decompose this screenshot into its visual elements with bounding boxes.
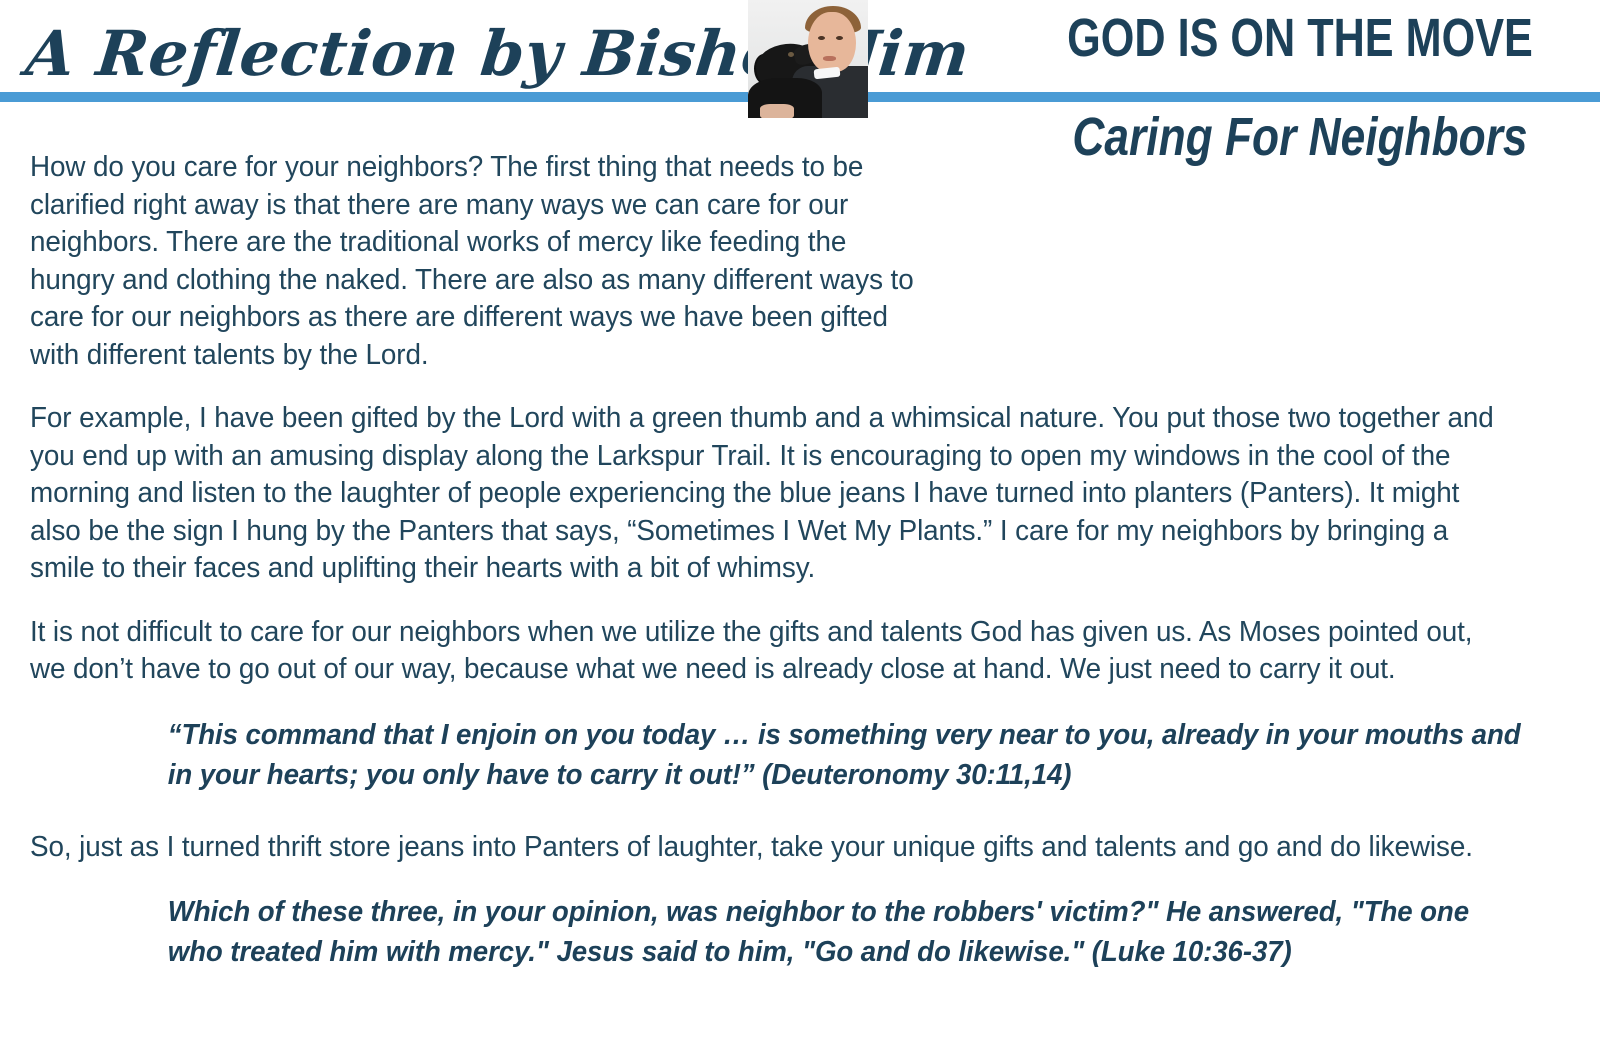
dog-paw — [760, 104, 794, 118]
article-body: How do you care for your neighbors? The … — [30, 149, 1568, 998]
paragraph-not-difficult: It is not difficult to care for our neig… — [30, 614, 1506, 689]
paragraph-intro: How do you care for your neighbors? The … — [30, 149, 923, 374]
priest-right-eye — [836, 36, 843, 40]
priest-mouth — [823, 56, 836, 61]
paragraph-example: For example, I have been gifted by the L… — [30, 400, 1506, 588]
paragraph-closing: So, just as I turned thrift store jeans … — [30, 829, 1506, 867]
priest-left-eye — [818, 36, 825, 40]
series-subtitle: Caring For Neighbors — [1054, 108, 1546, 166]
series-title: GOD IS ON THE MOVE — [1060, 10, 1540, 66]
reflection-title: A Reflection by Bishop Jim — [20, 2, 732, 112]
scripture-luke: Which of these three, in your opinion, w… — [30, 892, 1522, 972]
scripture-deuteronomy: “This command that I enjoin on you today… — [30, 715, 1522, 795]
bishop-with-dog-photo — [748, 0, 868, 118]
dog-eye — [788, 52, 794, 57]
priest-head — [808, 12, 856, 72]
